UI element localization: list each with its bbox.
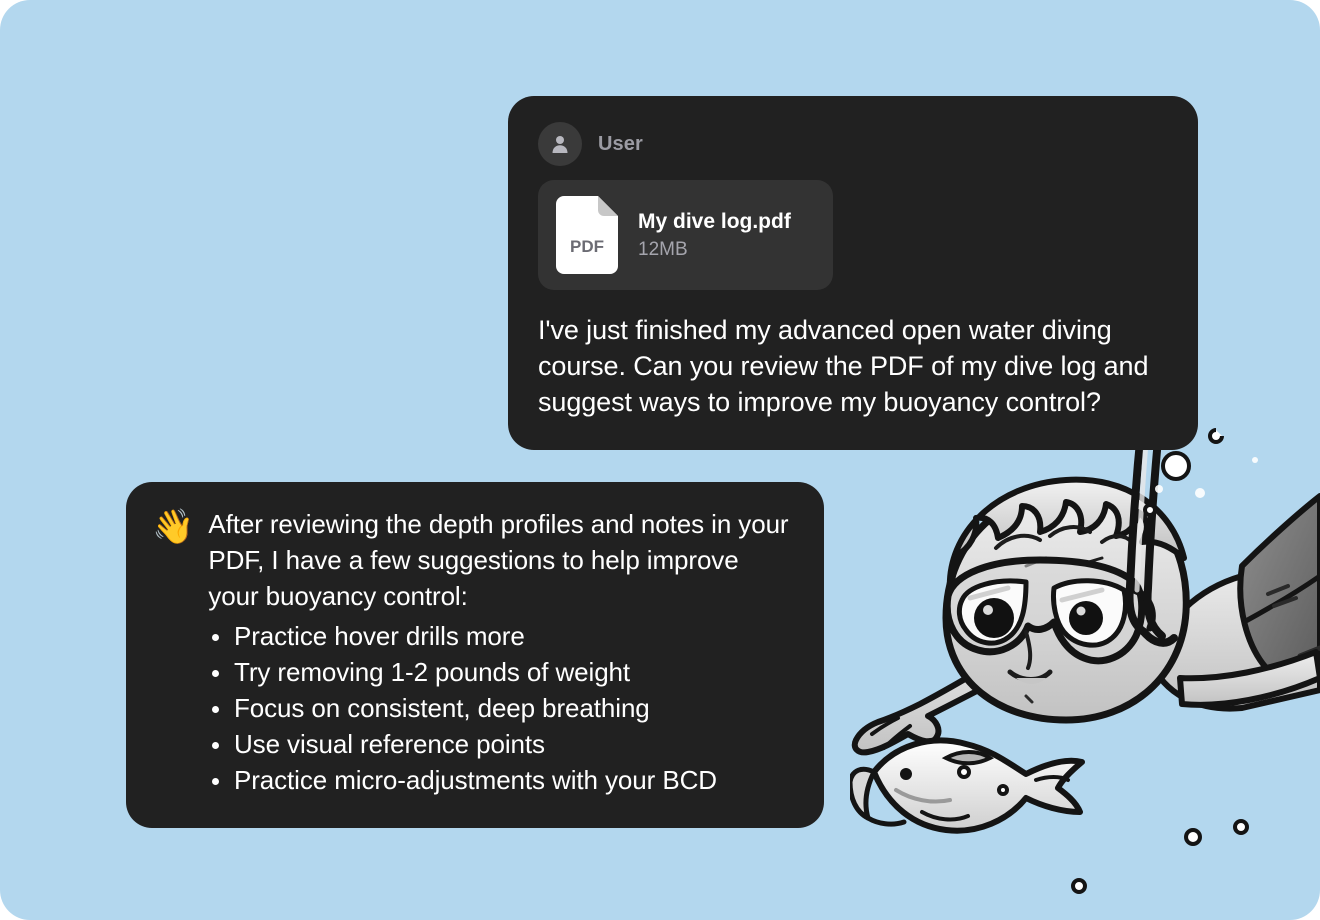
suggestion-list: Practice hover drills more Try removing … <box>152 618 794 798</box>
list-item: Focus on consistent, deep breathing <box>212 690 794 726</box>
screenshot-canvas: User PDF My dive log.pdf 12MB I've just … <box>0 0 1320 920</box>
assistant-message-bubble: 👋 After reviewing the depth profiles and… <box>126 482 824 828</box>
list-item: Practice micro-adjustments with your BCD <box>212 762 794 798</box>
user-message-header: User <box>538 122 1168 166</box>
dive-mask-icon <box>947 560 1152 661</box>
diver-figure <box>855 414 1320 753</box>
user-message-bubble: User PDF My dive log.pdf 12MB I've just … <box>508 96 1198 450</box>
waving-hand-emoji: 👋 <box>152 508 194 546</box>
list-item: Use visual reference points <box>212 726 794 762</box>
pdf-icon-label: PDF <box>570 237 604 256</box>
user-message-text: I've just finished my advanced open wate… <box>538 312 1168 420</box>
attachment-meta: My dive log.pdf 12MB <box>638 210 791 261</box>
user-name-label: User <box>598 133 643 156</box>
pdf-file-icon: PDF <box>556 196 618 274</box>
list-item: Practice hover drills more <box>212 618 794 654</box>
list-item: Try removing 1-2 pounds of weight <box>212 654 794 690</box>
attachment-filename: My dive log.pdf <box>638 210 791 234</box>
person-avatar-icon <box>538 122 582 166</box>
assistant-intro-text: After reviewing the depth profiles and n… <box>208 506 794 614</box>
assistant-intro-row: 👋 After reviewing the depth profiles and… <box>152 506 794 614</box>
pdf-attachment-card[interactable]: PDF My dive log.pdf 12MB <box>538 180 833 290</box>
attachment-filesize: 12MB <box>638 239 791 261</box>
fish-illustration <box>850 740 1082 830</box>
